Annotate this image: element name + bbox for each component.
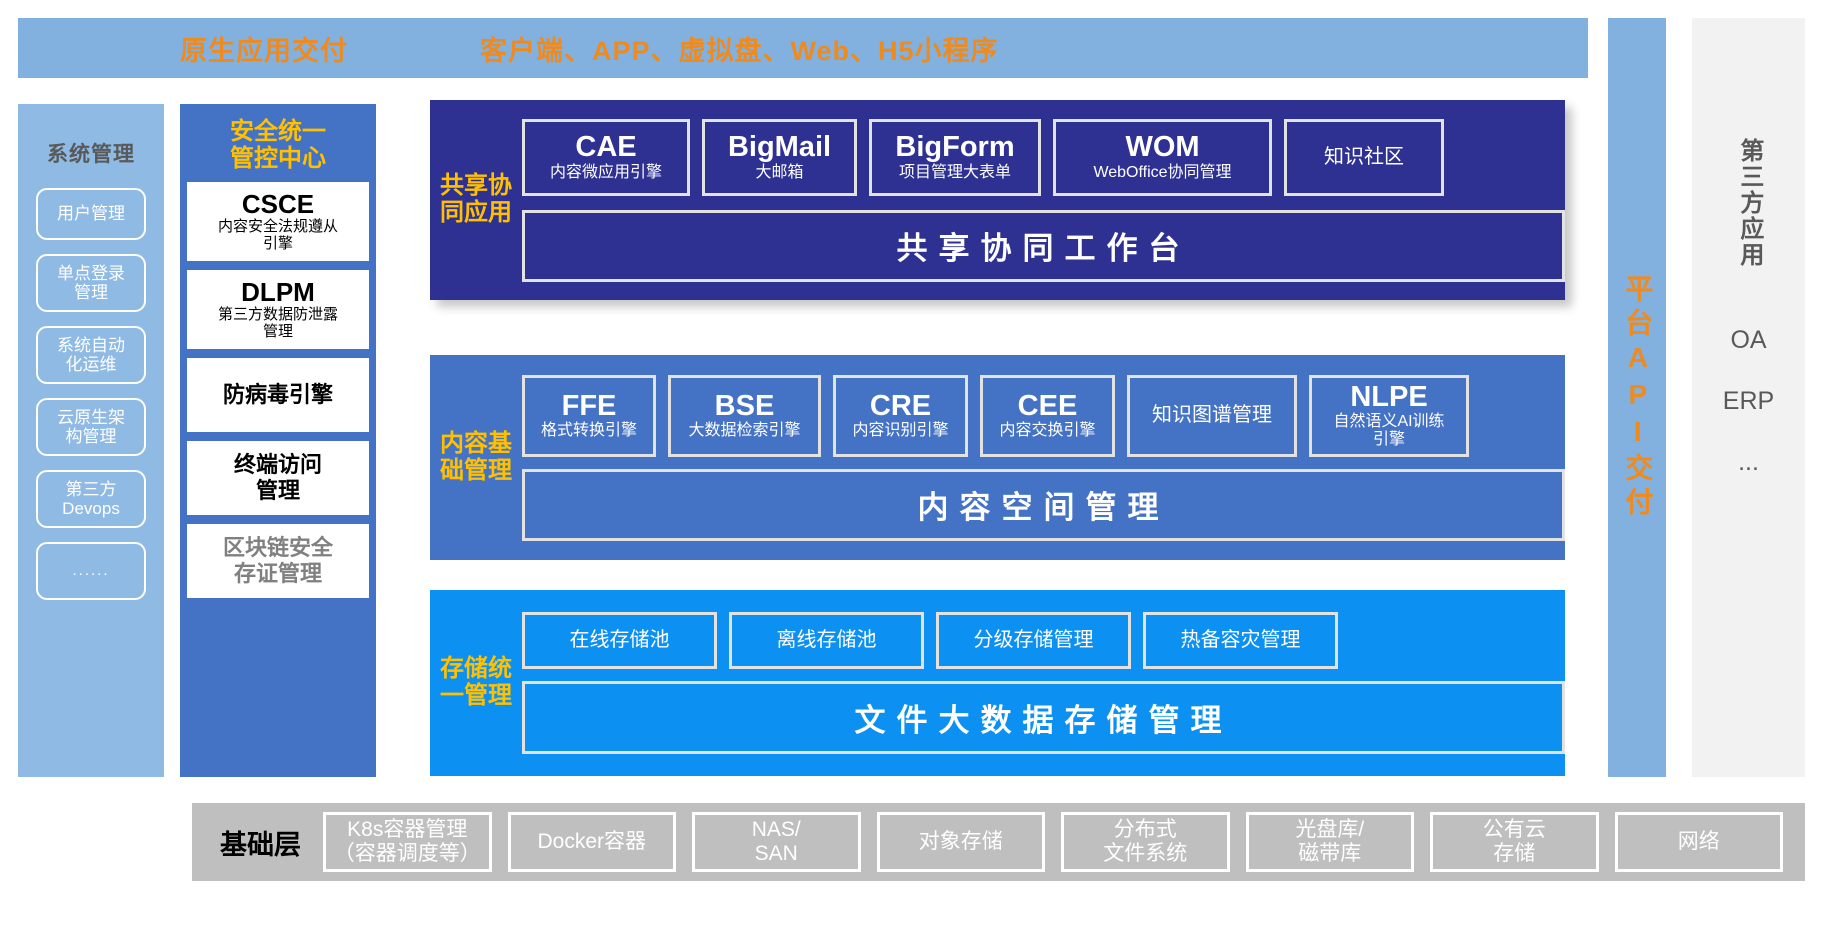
sidebar-item-label: 用户管理 <box>57 204 125 223</box>
security-panel-title: 安全统一 管控中心 <box>230 119 326 173</box>
chip-label: 离线存储池 <box>777 629 877 652</box>
security-item-antivirus-engine[interactable]: 防病毒引擎 <box>187 358 369 432</box>
chip-code: BigMail <box>728 132 831 162</box>
chip-code: WOM <box>1125 132 1199 162</box>
chip-code: BSE <box>715 391 775 421</box>
file-bigdata-storage-management[interactable]: 文件大数据存储管理 <box>522 681 1565 754</box>
storage-chips: 在线存储池 离线存储池 分级存储管理 热备容灾管理 <box>522 612 1565 669</box>
chip-subtitle: 项目管理大表单 <box>899 164 1011 182</box>
base-layer-items: K8s容器管理 （容器调度等） Docker容器 NAS/ SAN 对象存储 分… <box>323 812 1805 872</box>
third-party-items: OA ERP ... <box>1723 326 1774 477</box>
chip-bigform[interactable]: BigForm 项目管理大表单 <box>869 119 1041 196</box>
sidebar-item-sso-management[interactable]: 单点登录 管理 <box>36 254 146 312</box>
architecture-diagram: 原生应用交付 客户端、APP、虚拟盘、Web、H5小程序 系统管理 用户管理 单… <box>0 0 1823 928</box>
third-party-title: 第三方应用 <box>1734 138 1763 268</box>
third-party-item-erp[interactable]: ERP <box>1723 387 1774 416</box>
shared-collaboration-workbench[interactable]: 共享协同工作台 <box>522 210 1565 282</box>
chip-code: CAE <box>575 132 636 162</box>
security-item-code: CSCE <box>242 190 314 219</box>
content-base-management-section: 内容基 础管理 FFE 格式转换引擎 BSE 大数据检索引擎 CRE 内容识别引… <box>430 355 1565 560</box>
system-management-panel: 系统管理 用户管理 单点登录 管理 系统自动 化运维 云原生架 构管理 第三方 … <box>18 104 164 777</box>
chip-code: FFE <box>562 391 617 421</box>
chip-offline-storage-pool[interactable]: 离线存储池 <box>729 612 924 669</box>
security-item-dlpm[interactable]: DLPM 第三方数据防泄露 管理 <box>187 270 369 349</box>
security-item-subtitle: 第三方数据防泄露 管理 <box>218 307 338 341</box>
content-space-management[interactable]: 内容空间管理 <box>522 469 1565 541</box>
security-item-label: 区块链安全 存证管理 <box>223 535 333 586</box>
storage-management-label: 存储统 一管理 <box>430 590 522 776</box>
system-management-title: 系统管理 <box>47 138 135 168</box>
security-item-code: DLPM <box>241 278 315 307</box>
platform-api-delivery-column: 平台API交付 <box>1608 18 1666 777</box>
base-chip-k8s[interactable]: K8s容器管理 （容器调度等） <box>323 812 492 872</box>
chip-label: 分级存储管理 <box>974 629 1094 652</box>
chip-wom[interactable]: WOM WebOffice协同管理 <box>1053 119 1272 196</box>
base-layer-title: 基础层 <box>220 823 301 862</box>
chip-cre[interactable]: CRE 内容识别引擎 <box>833 375 968 457</box>
chip-nlpe[interactable]: NLPE 自然语义AI训练 引擎 <box>1309 375 1469 457</box>
content-base-management-label: 内容基 础管理 <box>430 355 522 560</box>
base-chip-distributed-filesystem[interactable]: 分布式 文件系统 <box>1061 812 1230 872</box>
content-base-management-body: FFE 格式转换引擎 BSE 大数据检索引擎 CRE 内容识别引擎 CEE 内容… <box>522 355 1565 560</box>
chip-subtitle: 内容微应用引擎 <box>550 164 662 182</box>
sidebar-item-label: 系统自动 化运维 <box>57 336 125 374</box>
chip-subtitle: 自然语义AI训练 引擎 <box>1333 413 1444 449</box>
chip-code: CRE <box>870 391 931 421</box>
chip-subtitle: 大数据检索引擎 <box>688 422 800 440</box>
storage-management-body: 在线存储池 离线存储池 分级存储管理 热备容灾管理 文件大数据存储管理 <box>522 590 1565 776</box>
base-chip-network[interactable]: 网络 <box>1615 812 1784 872</box>
sidebar-item-third-party-devops[interactable]: 第三方 Devops <box>36 470 146 528</box>
third-party-applications-column: 第三方应用 OA ERP ... <box>1692 18 1805 777</box>
shared-collaboration-label: 共享协 同应用 <box>430 100 522 300</box>
shared-collaboration-chips: CAE 内容微应用引擎 BigMail 大邮箱 BigForm 项目管理大表单 … <box>522 119 1565 196</box>
chip-ffe[interactable]: FFE 格式转换引擎 <box>522 375 656 457</box>
chip-subtitle: WebOffice协同管理 <box>1093 164 1231 182</box>
base-layer-section: 基础层 K8s容器管理 （容器调度等） Docker容器 NAS/ SAN 对象… <box>192 803 1805 881</box>
third-party-item-more[interactable]: ... <box>1738 448 1759 477</box>
chip-subtitle: 大邮箱 <box>755 164 803 182</box>
chip-subtitle: 格式转换引擎 <box>541 422 637 440</box>
chip-subtitle: 内容交换引擎 <box>999 422 1095 440</box>
shared-collaboration-body: CAE 内容微应用引擎 BigMail 大邮箱 BigForm 项目管理大表单 … <box>522 100 1565 300</box>
security-item-endpoint-access-management[interactable]: 终端访问 管理 <box>187 441 369 515</box>
chip-knowledge-graph-management[interactable]: 知识图谱管理 <box>1127 375 1297 457</box>
sidebar-item-user-management[interactable]: 用户管理 <box>36 188 146 240</box>
security-item-subtitle: 内容安全法规遵从 引擎 <box>218 219 338 253</box>
base-chip-docker[interactable]: Docker容器 <box>508 812 677 872</box>
sidebar-item-label: ...... <box>72 563 109 580</box>
security-item-blockchain-evidence-management[interactable]: 区块链安全 存证管理 <box>187 524 369 598</box>
security-control-center-panel: 安全统一 管控中心 CSCE 内容安全法规遵从 引擎 DLPM 第三方数据防泄露… <box>180 104 376 777</box>
chip-subtitle: 内容识别引擎 <box>852 422 948 440</box>
chip-label: 热备容灾管理 <box>1181 629 1301 652</box>
storage-management-section: 存储统 一管理 在线存储池 离线存储池 分级存储管理 热备容灾管理 文件大数据存… <box>430 590 1565 776</box>
security-item-csce[interactable]: CSCE 内容安全法规遵从 引擎 <box>187 182 369 261</box>
shared-collaboration-section: 共享协 同应用 CAE 内容微应用引擎 BigMail 大邮箱 BigForm … <box>430 100 1565 300</box>
native-app-delivery-banner: 原生应用交付 客户端、APP、虚拟盘、Web、H5小程序 <box>18 18 1588 78</box>
banner-description: 客户端、APP、虚拟盘、Web、H5小程序 <box>480 29 999 68</box>
banner-label: 原生应用交付 <box>180 29 348 68</box>
chip-knowledge-community[interactable]: 知识社区 <box>1284 119 1444 196</box>
security-item-label: 防病毒引擎 <box>223 382 333 407</box>
sidebar-item-automated-ops[interactable]: 系统自动 化运维 <box>36 326 146 384</box>
chip-online-storage-pool[interactable]: 在线存储池 <box>522 612 717 669</box>
content-base-chips: FFE 格式转换引擎 BSE 大数据检索引擎 CRE 内容识别引擎 CEE 内容… <box>522 375 1565 457</box>
sidebar-item-more[interactable]: ...... <box>36 542 146 600</box>
chip-code: BigForm <box>895 132 1014 162</box>
base-chip-optical-tape-library[interactable]: 光盘库/ 磁带库 <box>1246 812 1415 872</box>
base-chip-object-storage[interactable]: 对象存储 <box>877 812 1046 872</box>
base-chip-public-cloud-storage[interactable]: 公有云 存储 <box>1430 812 1599 872</box>
platform-api-delivery-label: 平台API交付 <box>1618 274 1657 521</box>
chip-cee[interactable]: CEE 内容交换引擎 <box>980 375 1115 457</box>
sidebar-item-label: 第三方 Devops <box>62 480 120 518</box>
chip-hot-backup-dr-management[interactable]: 热备容灾管理 <box>1143 612 1338 669</box>
chip-cae[interactable]: CAE 内容微应用引擎 <box>522 119 690 196</box>
security-item-label: 终端访问 管理 <box>234 452 322 503</box>
sidebar-item-cloud-native-architecture[interactable]: 云原生架 构管理 <box>36 398 146 456</box>
chip-tiered-storage-management[interactable]: 分级存储管理 <box>936 612 1131 669</box>
chip-label: 知识社区 <box>1324 146 1404 169</box>
chip-bse[interactable]: BSE 大数据检索引擎 <box>668 375 821 457</box>
chip-label: 知识图谱管理 <box>1152 404 1272 427</box>
sidebar-item-label: 云原生架 构管理 <box>57 408 125 446</box>
chip-bigmail[interactable]: BigMail 大邮箱 <box>702 119 857 196</box>
chip-code: CEE <box>1018 391 1078 421</box>
sidebar-item-label: 单点登录 管理 <box>57 264 125 302</box>
base-chip-nas-san[interactable]: NAS/ SAN <box>692 812 861 872</box>
chip-code: NLPE <box>1350 382 1427 412</box>
third-party-item-oa[interactable]: OA <box>1730 326 1766 355</box>
chip-label: 在线存储池 <box>570 629 670 652</box>
